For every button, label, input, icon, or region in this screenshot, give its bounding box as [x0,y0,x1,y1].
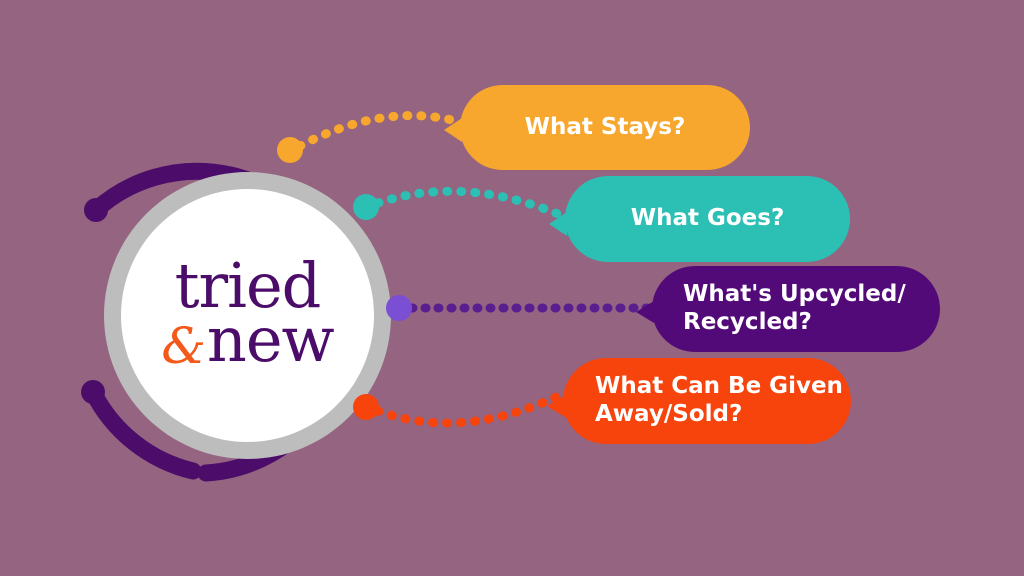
bubble-tail-what-goes [549,212,567,236]
node-dot-given-away[interactable] [353,394,379,420]
bubble-label-given-away: What Can Be Given Away/Sold? [595,373,851,428]
bubble-label-what-goes: What Goes? [565,205,850,233]
bubble-what-goes[interactable]: What Goes? [565,176,850,262]
bubble-tail-upcycled [636,301,654,323]
logo-word-new: new [207,303,334,376]
node-dot-upcycled[interactable] [386,295,412,321]
bubble-label-what-stays: What Stays? [460,114,750,142]
logo-wordmark: tried &new [161,260,333,367]
node-dot-what-stays[interactable] [277,137,303,163]
bubble-tail-given-away [547,395,565,417]
logo-line-new: &new [161,314,333,367]
logo-ampersand: & [161,317,207,375]
bubble-what-stays[interactable]: What Stays? [460,85,750,170]
bubble-tail-what-stays [444,118,462,142]
bubble-given-away[interactable]: What Can Be Given Away/Sold? [563,358,851,444]
slide-canvas: tried &new What Stays? What Goes? What's… [0,0,1024,576]
bubble-label-upcycled: What's Upcycled/ Recycled? [683,281,940,336]
connector-what-stays [300,116,452,146]
bubble-upcycled[interactable]: What's Upcycled/ Recycled? [652,266,940,352]
node-dot-what-goes[interactable] [353,194,379,220]
badge-inner-circle: tried &new [121,189,374,442]
